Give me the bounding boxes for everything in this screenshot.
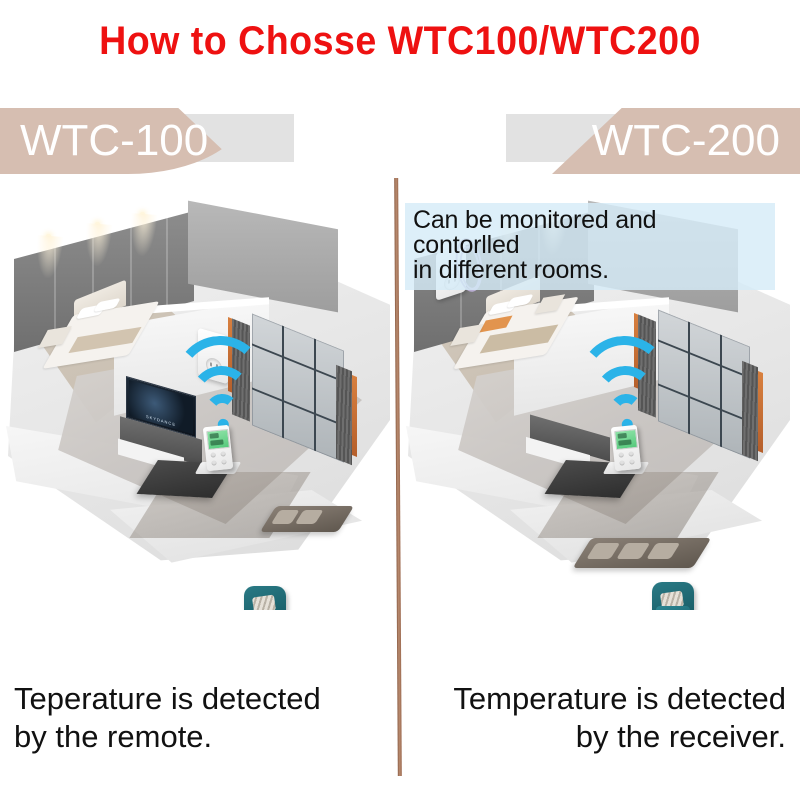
remote-button [619,460,624,465]
room-render-left: SKYDANCE [0,190,400,610]
wall-trim [758,371,763,453]
caption-wtc200: Temperature is detected by the receiver. [420,680,786,756]
banner-wtc200: WTC-200 [470,108,800,174]
remote-button [618,452,623,457]
wifi-signal-icon [164,352,279,431]
armchair [244,586,286,610]
wall-trim [352,375,357,457]
banner-label-left: WTC-100 [20,108,208,174]
remote-button [628,451,633,456]
armchair-seat [656,606,690,610]
remote-button [211,460,216,465]
banner-label-right: WTC-200 [592,108,780,174]
remote-button [629,459,634,464]
page-title: How to Chosse WTC100/WTC200 [24,18,776,64]
remote-button [210,452,215,457]
remote-button [221,459,226,464]
curtain [742,361,758,461]
remote-control [611,425,641,471]
remote-control [203,425,233,471]
wifi-signal-icon [568,352,683,431]
armchair-cushion [252,595,276,610]
infographic-page: How to Chosse WTC100/WTC200 WTC-100 WTC-… [0,0,800,800]
downlight-glow [35,235,64,279]
callout-wtc200: Can be monitored and contorlled in diffe… [405,203,775,290]
curtain [336,365,352,465]
sofa [260,506,354,532]
remote-lcd-screen [614,429,638,450]
caption-wtc100: Teperature is detected by the remote. [14,680,380,756]
downlight-glow [84,223,113,267]
banner-wtc100: WTC-100 [0,108,330,174]
remote-button [220,451,225,456]
downlight-glow [129,213,158,257]
remote-lcd-screen [206,429,230,450]
scene-wtc100: SKYDANCE [0,190,400,610]
sofa [573,538,712,568]
armchair [652,582,694,610]
